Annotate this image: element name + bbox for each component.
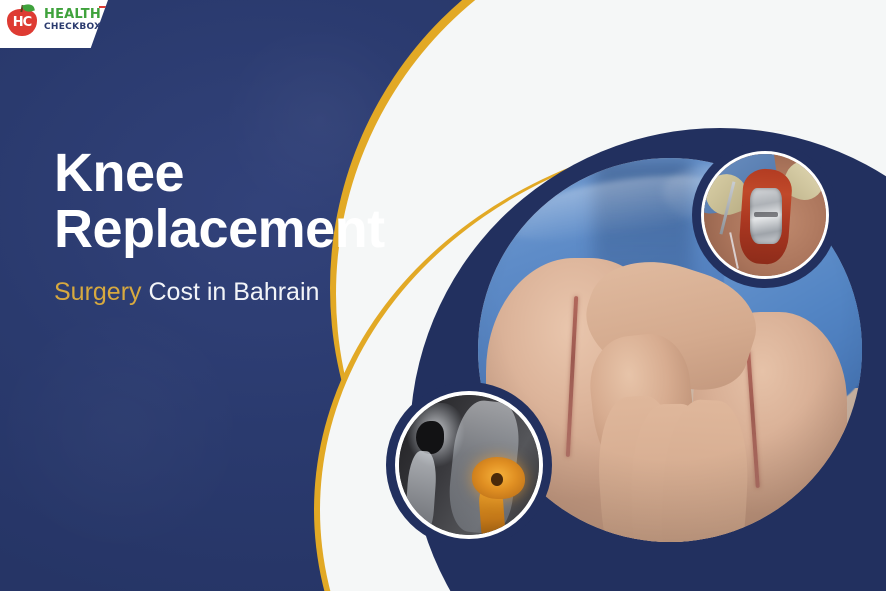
logo-word-health: HEALTH [44, 8, 101, 21]
inset-photo-xray [386, 382, 552, 548]
brand-logo[interactable]: HC HEALTH CHECKBOX [0, 0, 108, 48]
logo-word-checkbox: CHECKBOX [44, 23, 101, 32]
inset-xray-image [399, 395, 539, 535]
apple-logo-icon: HC [7, 4, 37, 36]
inset-surgery-image [704, 154, 826, 276]
logo-monogram: HC [7, 9, 37, 36]
headline-line-2: Replacement [54, 204, 474, 256]
subheadline: Surgery Cost in Bahrain [54, 278, 474, 307]
xray-knee-joint-highlight [472, 457, 525, 499]
logo-inner: HC HEALTH CHECKBOX [7, 4, 108, 36]
inset-photo-surgery [692, 142, 838, 288]
subheadline-rest: Cost in Bahrain [142, 278, 320, 306]
knee-implant-prosthesis [750, 188, 782, 244]
banner-hero: Knee Replacement Surgery Cost in Bahrain… [0, 0, 886, 591]
headline-block: Knee Replacement Surgery Cost in Bahrain [54, 148, 474, 307]
headline-line-1: Knee [54, 148, 474, 200]
subheadline-highlight: Surgery [54, 278, 142, 306]
